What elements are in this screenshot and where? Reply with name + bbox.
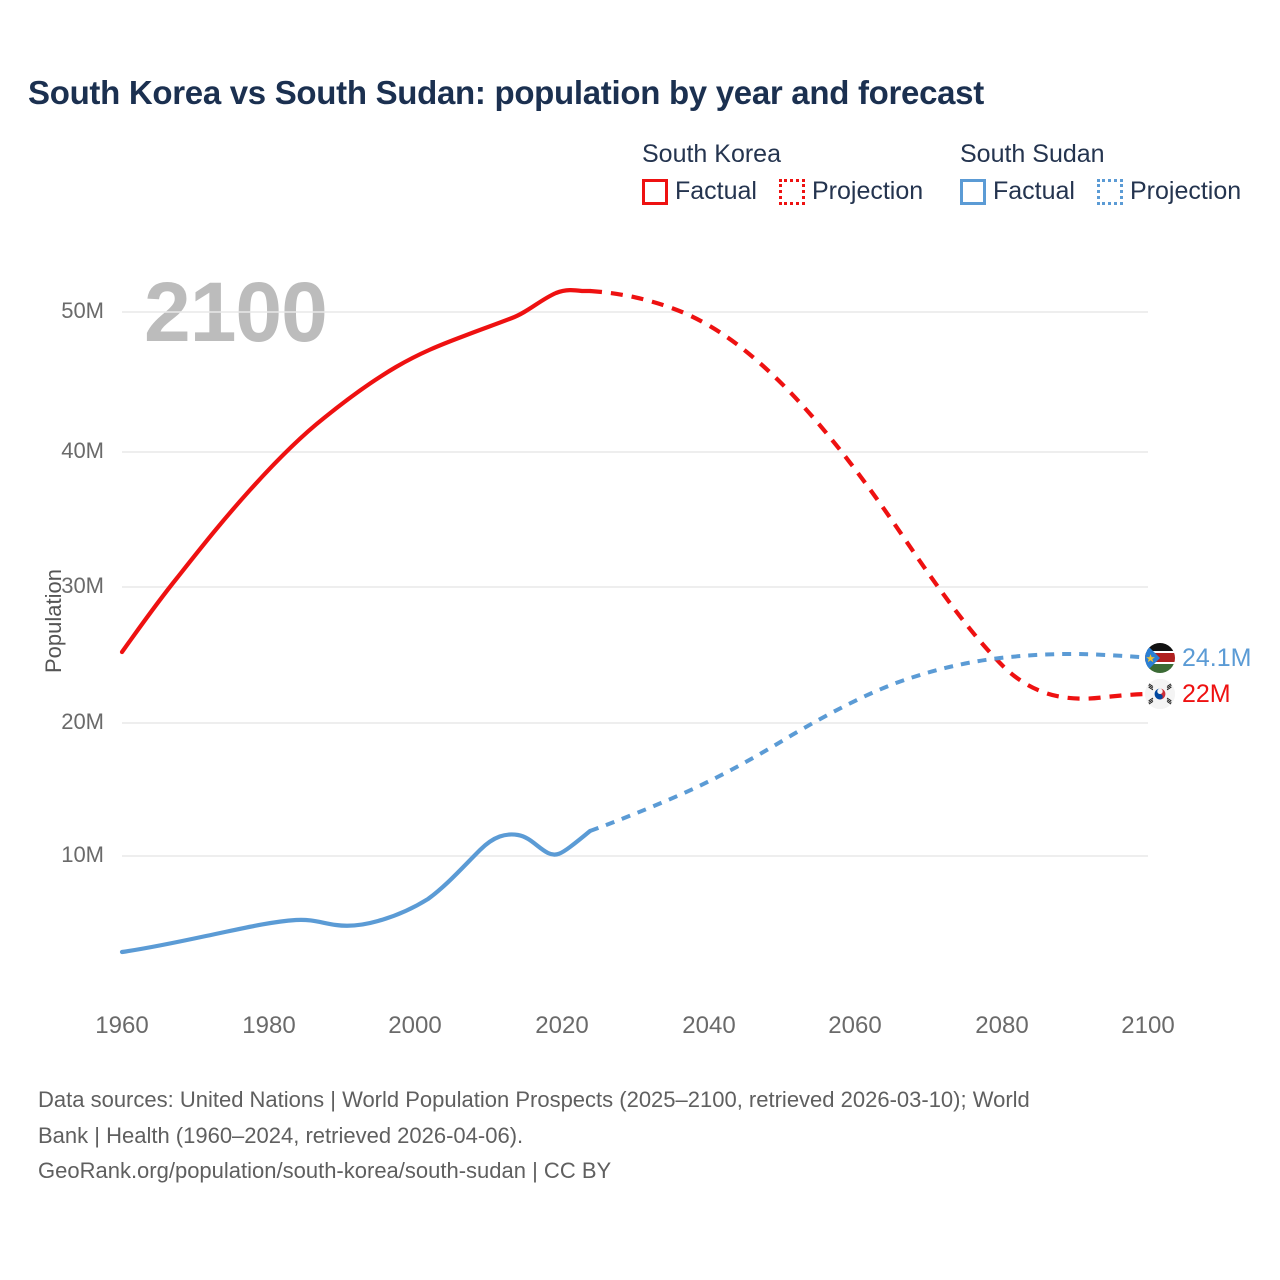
y-tick-label: 10M [0,842,122,868]
page-title: South Korea vs South Sudan: population b… [28,74,984,112]
x-tick-label: 2060 [828,1012,881,1040]
footer-line-3[interactable]: GeoRank.org/population/south-korea/south… [38,1153,1238,1189]
legend-label-korea-factual: Factual [675,177,757,206]
south-sudan-flag-icon [1145,643,1175,673]
x-axis-tick-labels: 1960 1980 2000 2020 2040 2060 2080 2100 [0,1012,1280,1052]
end-value-south-sudan: 24.1M [1182,644,1251,673]
end-value-south-korea: 22M [1182,680,1231,709]
gridlines [122,312,1148,856]
legend-swatch-dotted-icon [779,179,805,205]
south-korea-flag-icon [1145,679,1175,709]
footer-line-1: Data sources: United Nations | World Pop… [38,1082,1238,1118]
x-tick-label: 2000 [388,1012,441,1040]
legend-item-korea-projection[interactable]: Projection [779,177,923,206]
legend-item-sudan-factual[interactable]: Factual [960,177,1075,206]
series-line-south-korea-projection [590,291,1150,699]
x-tick-label: 1960 [95,1012,148,1040]
legend-title-south-sudan: South Sudan [960,140,1241,169]
x-tick-label: 2040 [682,1012,735,1040]
legend-group-south-sudan: South Sudan Factual Projection [960,140,1241,206]
chart-page: South Korea vs South Sudan: population b… [0,0,1280,1280]
legend-label-korea-projection: Projection [812,177,923,206]
x-tick-label: 1980 [242,1012,295,1040]
legend-group-south-korea: South Korea Factual Projection [642,140,923,206]
chart-legend: South Korea Factual Projection South Sud… [642,140,1252,220]
x-tick-label: 2020 [535,1012,588,1040]
legend-item-korea-factual[interactable]: Factual [642,177,757,206]
y-tick-label: 50M [0,298,122,324]
series-line-south-sudan-projection [590,654,1150,831]
y-axis-title: Population [41,561,67,681]
legend-swatch-solid-icon [642,179,668,205]
y-tick-label: 40M [0,438,122,464]
footer-sources: Data sources: United Nations | World Pop… [38,1082,1238,1189]
y-tick-label: 20M [0,709,122,735]
legend-swatch-solid-icon [960,179,986,205]
x-tick-label: 2080 [975,1012,1028,1040]
footer-line-2: Bank | Health (1960–2024, retrieved 2026… [38,1118,1238,1154]
legend-item-sudan-projection[interactable]: Projection [1097,177,1241,206]
legend-title-south-korea: South Korea [642,140,923,169]
legend-label-sudan-projection: Projection [1130,177,1241,206]
series-line-south-sudan-factual [122,831,590,952]
legend-label-sudan-factual: Factual [993,177,1075,206]
x-tick-label: 2100 [1121,1012,1174,1040]
watermark-year: 2100 [144,270,327,354]
legend-swatch-dotted-icon [1097,179,1123,205]
